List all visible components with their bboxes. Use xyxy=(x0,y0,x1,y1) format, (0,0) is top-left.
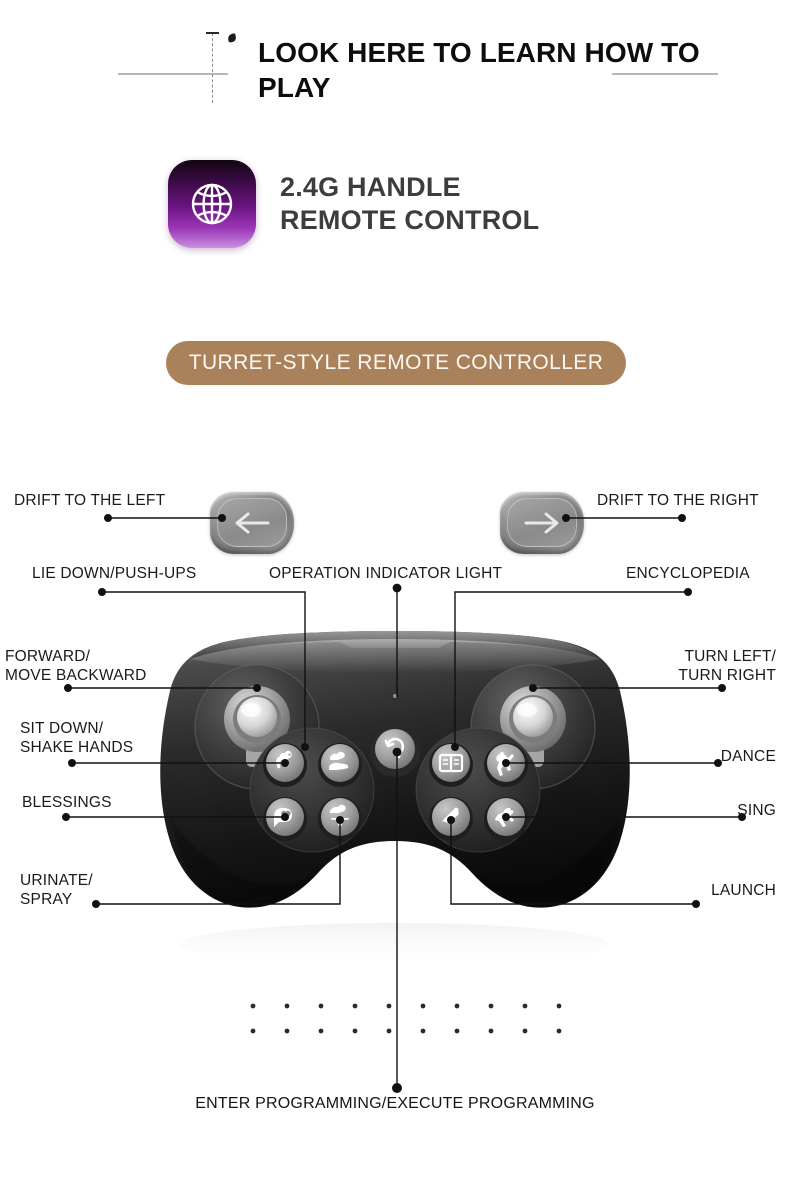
brand-badge xyxy=(168,160,256,248)
button-urinate-graphic xyxy=(318,797,362,841)
label-urinate-spray: URINATE/ SPRAY xyxy=(20,872,93,910)
button-blessings-graphic xyxy=(263,797,307,841)
gamepad-illustration xyxy=(120,615,670,1005)
shoulder-button-right[interactable] xyxy=(500,492,584,554)
button-dance-graphic xyxy=(484,743,528,787)
button-lie-down-graphic xyxy=(318,743,362,787)
gamepad-svg xyxy=(120,615,670,1005)
label-dance: DANCE xyxy=(626,748,776,767)
label-drift-left: DRIFT TO THE LEFT xyxy=(14,492,165,511)
center-button-graphic xyxy=(370,727,420,777)
arrow-left-icon xyxy=(210,492,294,554)
label-forward-backward: FORWARD/ MOVE BACKWARD xyxy=(5,648,147,686)
globe-icon xyxy=(186,178,238,230)
header: LOOK HERE TO LEARN HOW TO PLAY xyxy=(0,0,790,130)
label-lie-down: LIE DOWN/PUSH-UPS xyxy=(32,565,196,584)
reflection-dots xyxy=(251,1004,562,1034)
label-launch: LAUNCH xyxy=(640,882,776,901)
label-programming: ENTER PROGRAMMING/EXECUTE PROGRAMMING xyxy=(0,1095,790,1113)
label-encyclopedia: ENCYCLOPEDIA xyxy=(626,565,750,584)
button-sit-shake-graphic xyxy=(263,743,307,787)
shoulder-button-left[interactable] xyxy=(210,492,294,554)
product-infographic-page: LOOK HERE TO LEARN HOW TO PLAY 2.4G HAND… xyxy=(0,0,790,1181)
button-sing-graphic xyxy=(484,797,528,841)
page-title: LOOK HERE TO LEARN HOW TO PLAY xyxy=(258,35,718,105)
controller-diagram: DRIFT TO THE LEFT DRIFT TO THE RIGHT LIE… xyxy=(0,470,790,1150)
button-encyclopedia-graphic xyxy=(429,743,473,787)
label-sing: SING xyxy=(650,802,776,821)
label-blessings: BLESSINGS xyxy=(22,794,112,813)
button-launch-graphic xyxy=(429,797,473,841)
label-sit-shake: SIT DOWN/ SHAKE HANDS xyxy=(20,720,133,758)
label-turn-left-right: TURN LEFT/ TURN RIGHT xyxy=(620,648,776,686)
arrow-right-icon xyxy=(500,492,584,554)
label-indicator-light: OPERATION INDICATOR LIGHT xyxy=(269,565,502,584)
header-flag-icon xyxy=(227,33,236,42)
section-banner-label: TURRET-STYLE REMOTE CONTROLLER xyxy=(189,351,604,375)
header-dashed-divider xyxy=(212,33,213,103)
header-tick-icon xyxy=(206,32,219,34)
brand-title: 2.4G HANDLE REMOTE CONTROL xyxy=(280,171,539,237)
label-drift-right: DRIFT TO THE RIGHT xyxy=(597,492,759,511)
section-banner: TURRET-STYLE REMOTE CONTROLLER xyxy=(166,341,626,385)
brand-row: 2.4G HANDLE REMOTE CONTROL xyxy=(168,160,539,248)
